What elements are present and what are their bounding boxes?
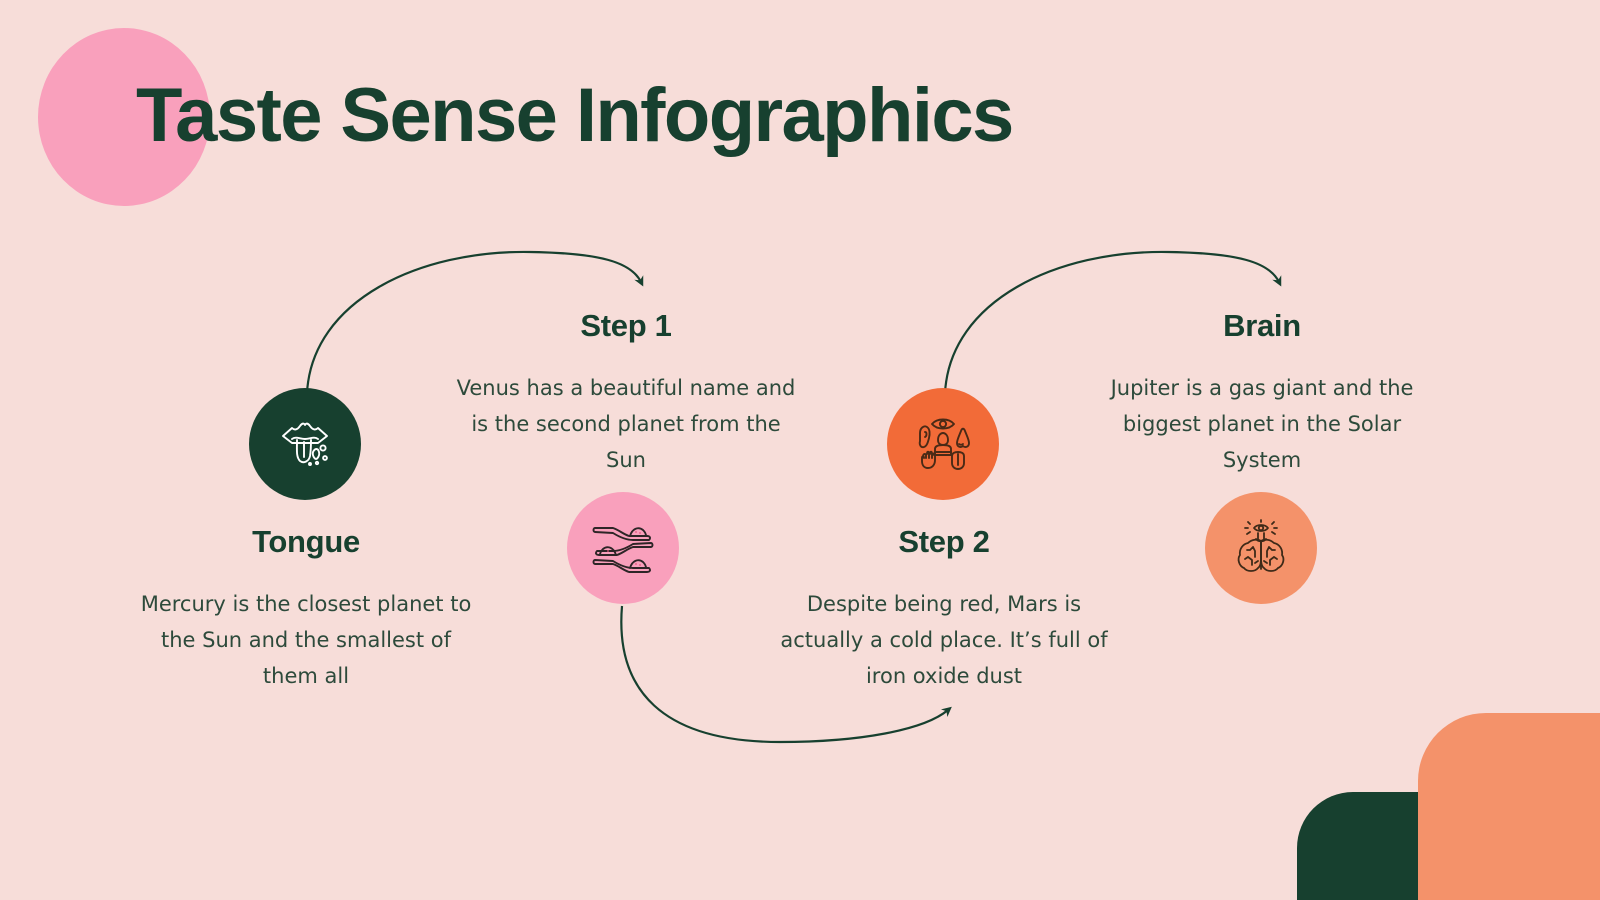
node-brain-heading: Brain (1091, 308, 1433, 344)
node-step1: Step 1 Venus has a beautiful name and is… (455, 308, 797, 478)
spoons-spices-icon (589, 519, 657, 577)
node-tongue-heading: Tongue (135, 524, 477, 560)
node-step1-body: Venus has a beautiful name and is the se… (455, 370, 797, 478)
five-senses-icon (911, 413, 975, 475)
node-brain-body: Jupiter is a gas giant and the biggest p… (1091, 370, 1433, 478)
decorative-orange-bar (1418, 713, 1600, 900)
node-step1-heading: Step 1 (455, 308, 797, 344)
node-step2-body: Despite being red, Mars is actually a co… (773, 586, 1115, 694)
brain-icon-circle[interactable] (1205, 492, 1317, 604)
tongue-icon (273, 412, 337, 476)
brain-eye-icon (1228, 517, 1294, 579)
node-step2: Step 2 Despite being red, Mars is actual… (773, 524, 1115, 694)
senses-icon-circle[interactable] (887, 388, 999, 500)
page-title: Taste Sense Infographics (136, 72, 1013, 159)
infographic-slide: Taste Sense Infographics (0, 0, 1600, 900)
tongue-icon-circle[interactable] (249, 388, 361, 500)
node-tongue-body: Mercury is the closest planet to the Sun… (135, 586, 477, 694)
node-step2-heading: Step 2 (773, 524, 1115, 560)
node-tongue: Tongue Mercury is the closest planet to … (135, 524, 477, 694)
node-brain: Brain Jupiter is a gas giant and the big… (1091, 308, 1433, 478)
spices-icon-circle[interactable] (567, 492, 679, 604)
